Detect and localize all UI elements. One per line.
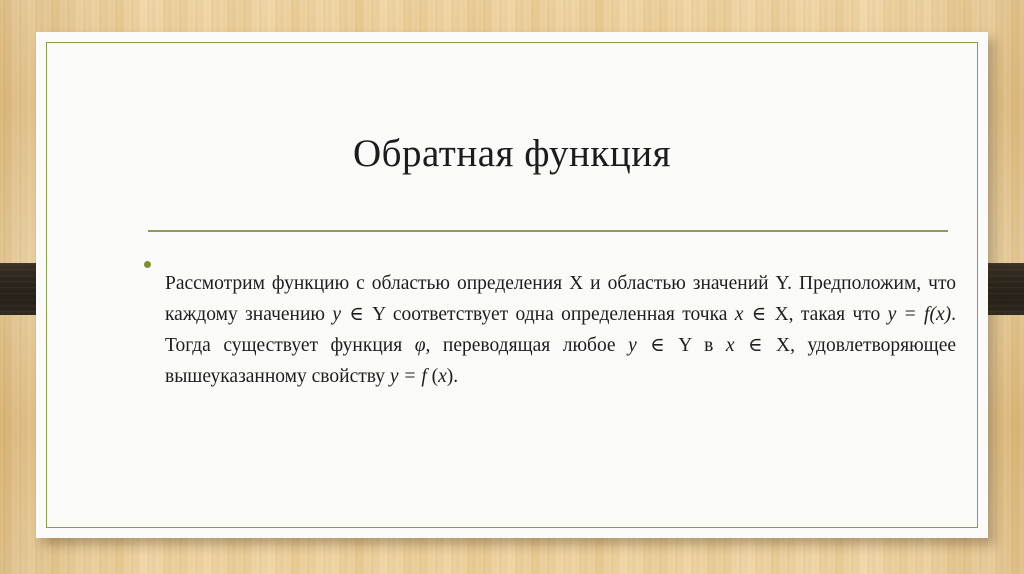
body-paragraph: Рассмотрим функцию с областью определени… xyxy=(165,268,956,392)
body-bullet-list: Рассмотрим функцию с областью определени… xyxy=(144,248,956,411)
page-title: Обратная функция xyxy=(106,133,918,176)
bullet-point-icon xyxy=(144,261,151,268)
slide-card: Обратная функция Рассмотрим функцию с об… xyxy=(36,32,988,538)
title-divider-rule xyxy=(148,230,948,232)
slide-stage: Обратная функция Рассмотрим функцию с об… xyxy=(0,0,1024,574)
